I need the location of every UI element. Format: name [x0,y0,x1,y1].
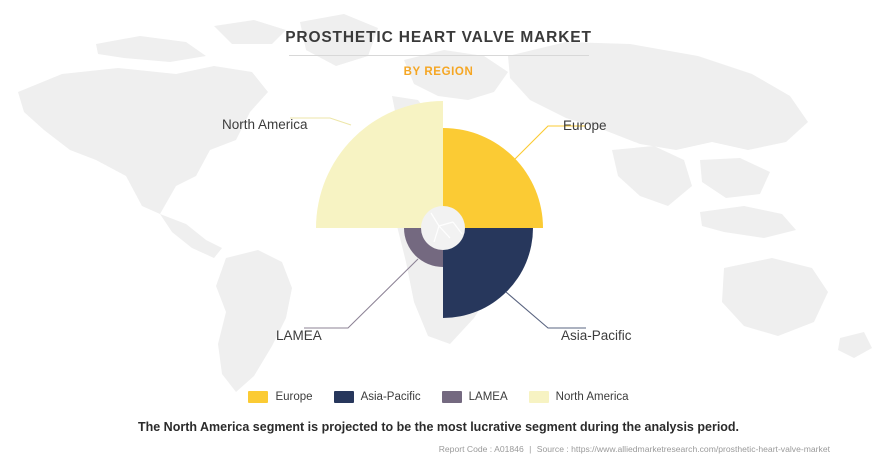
source-url[interactable]: Source : https://www.alliedmarketresearc… [537,444,830,454]
callout-label-europe: Europe [563,118,607,133]
footer-insight-note: The North America segment is projected t… [0,420,877,434]
callout-label-asia-pacific: Asia-Pacific [561,328,632,343]
legend-swatch-asia-pacific [334,391,354,403]
legend-item-asia-pacific[interactable]: Asia-Pacific [334,391,421,403]
callout-label-north-america: North America [222,117,308,132]
legend-swatch-europe [248,391,268,403]
page-subtitle: BY REGION [0,66,877,78]
leader-line-lamea [304,259,418,328]
legend-item-north-america[interactable]: North America [529,391,629,403]
callout-label-lamea: LAMEA [276,328,322,343]
page-title: PROSTHETIC HEART VALVE MARKET [0,29,877,47]
legend-item-lamea[interactable]: LAMEA [442,391,508,403]
legend-swatch-lamea [442,391,462,403]
meta-separator: | [526,444,534,454]
rose-center-hole [421,206,465,250]
title-divider [289,55,589,56]
legend-label-europe: Europe [275,391,312,403]
leader-line-asia-pacific [506,292,586,328]
chart-legend: Europe Asia-Pacific LAMEA North America [0,391,877,403]
report-code: Report Code : A01846 [439,444,524,454]
legend-label-north-america: North America [556,391,629,403]
legend-item-europe[interactable]: Europe [248,391,312,403]
footer-meta: Report Code : A01846 | Source : https://… [439,444,830,454]
infographic-card: PROSTHETIC HEART VALVE MARKET BY REGION [0,0,877,410]
legend-label-lamea: LAMEA [469,391,508,403]
legend-label-asia-pacific: Asia-Pacific [361,391,421,403]
legend-swatch-north-america [529,391,549,403]
